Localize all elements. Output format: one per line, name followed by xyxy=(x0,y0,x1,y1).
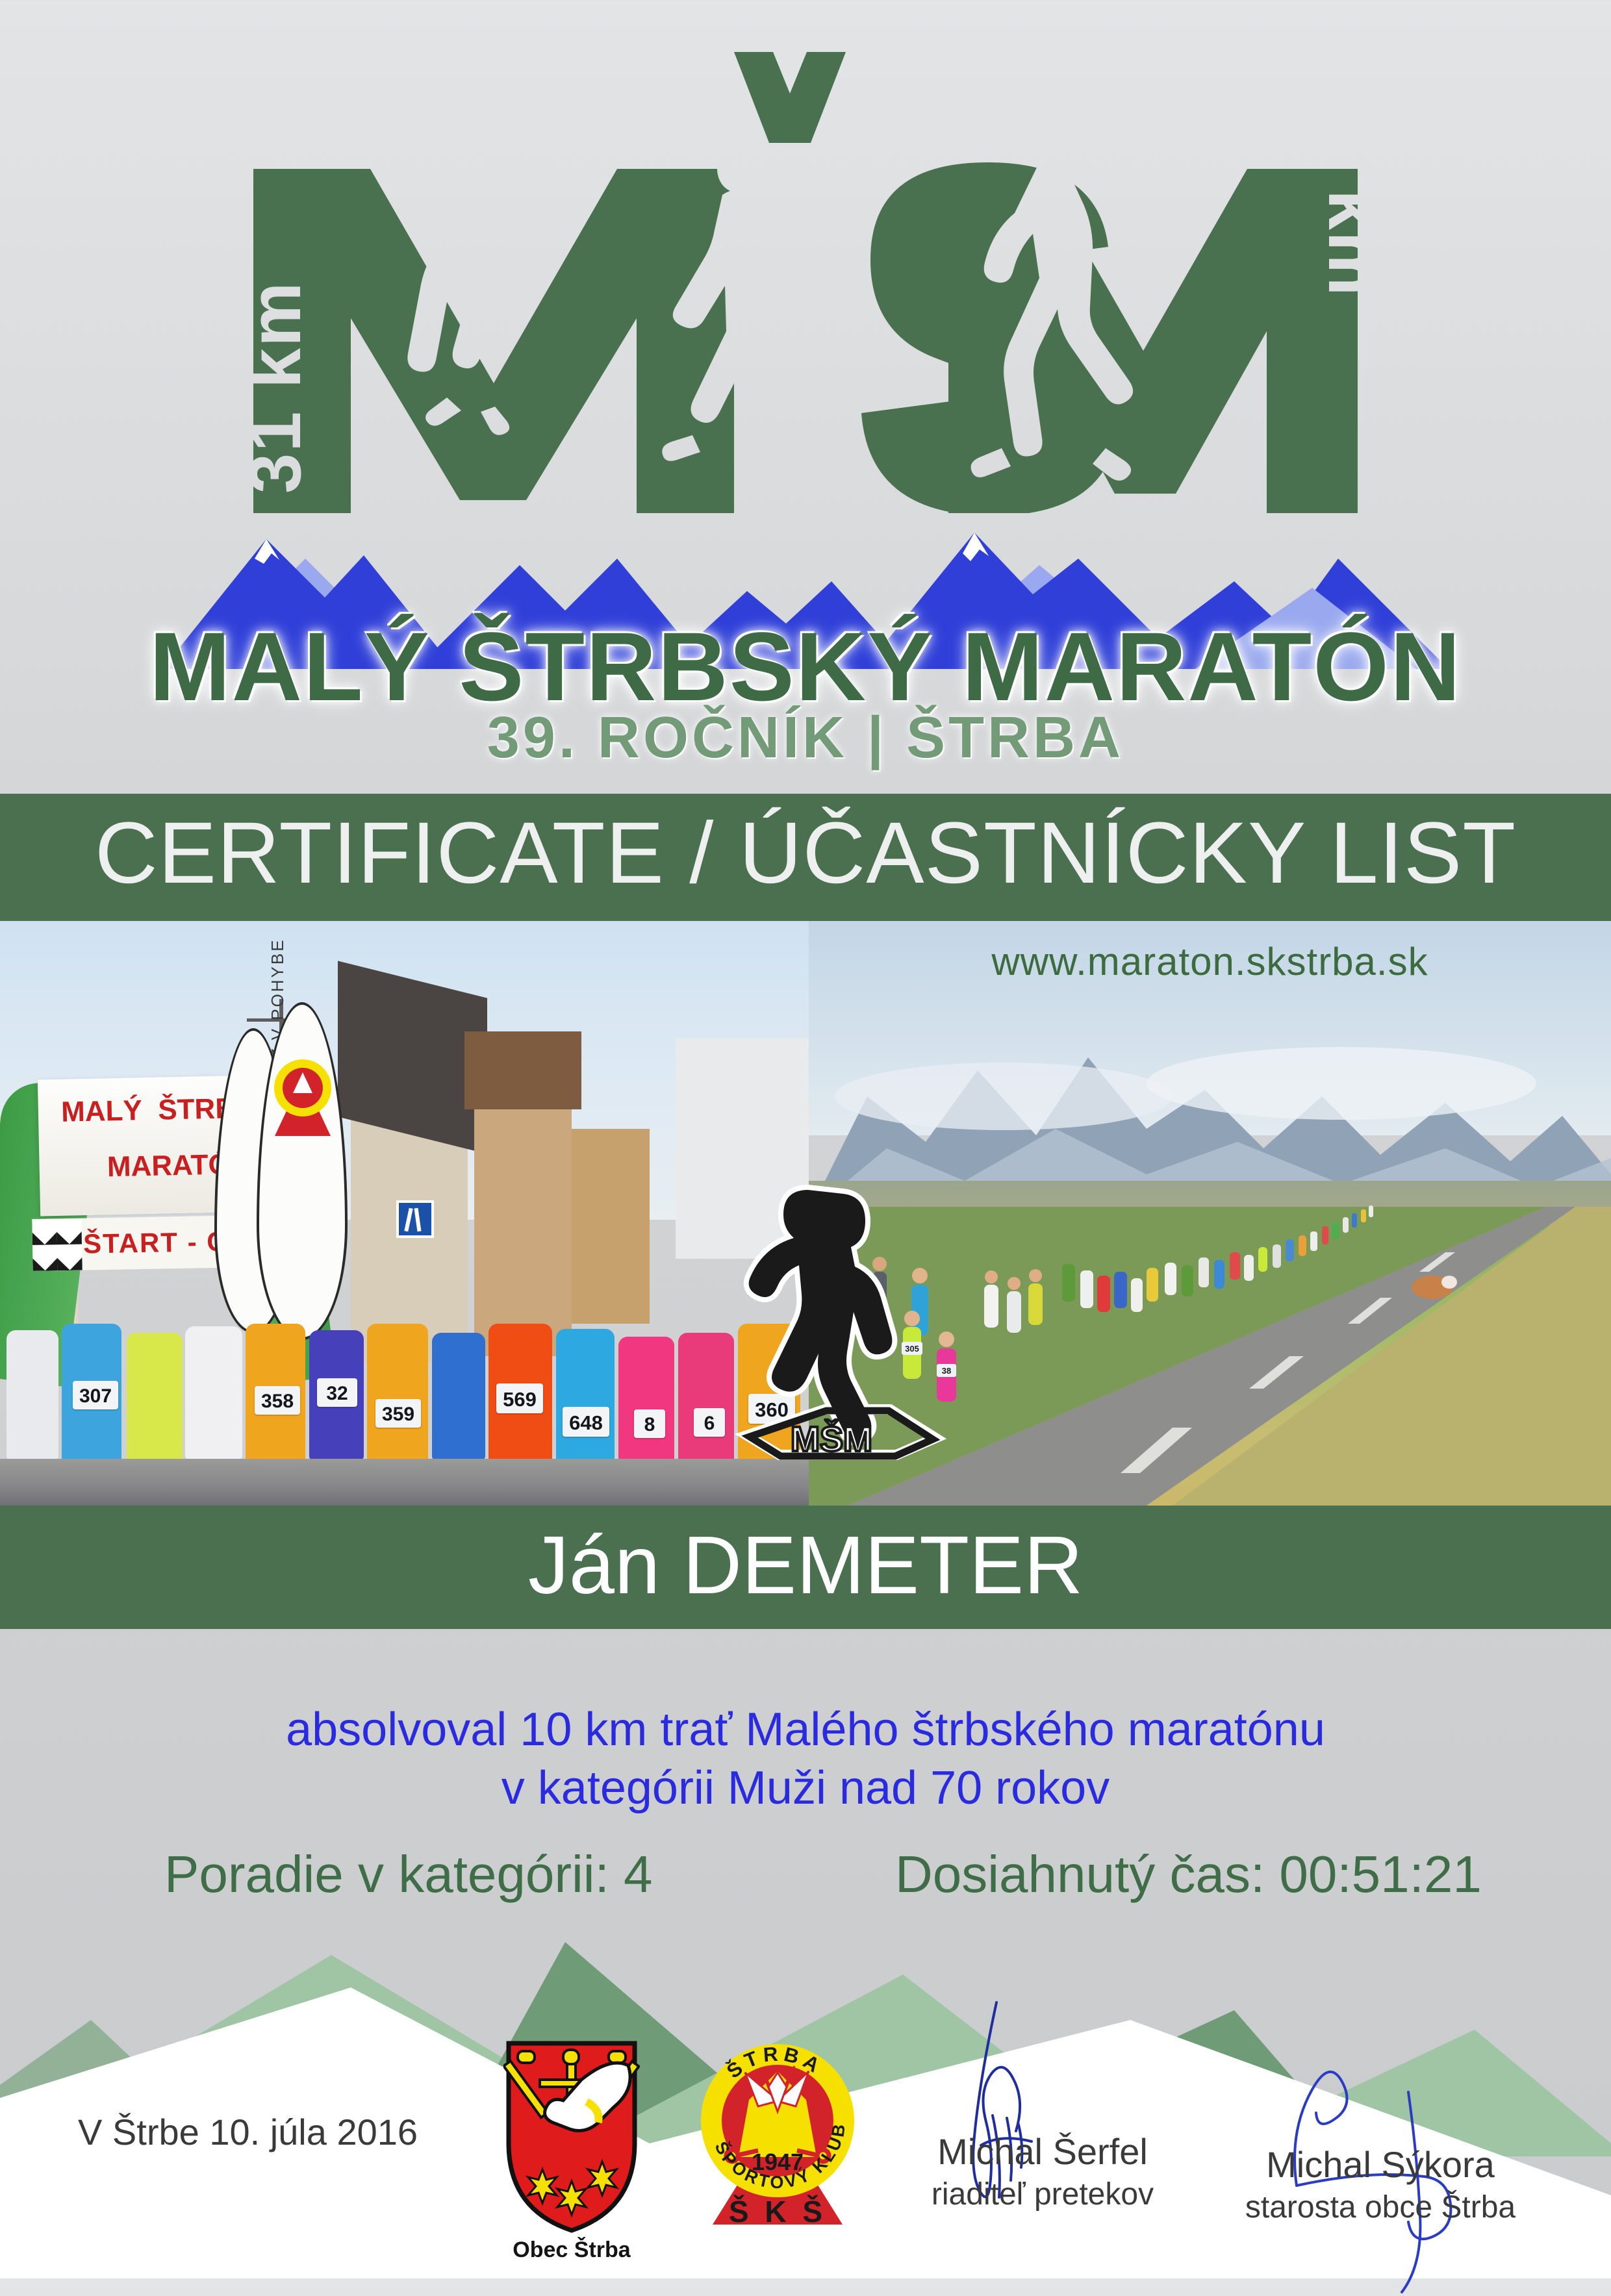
certificate-title: CERTIFICATE / ÚČASTNÍCKY LIST xyxy=(0,803,1611,903)
bib-number: 648 xyxy=(563,1407,609,1437)
arch-text-maly: MALÝ xyxy=(61,1094,143,1128)
sks-logo-small xyxy=(267,1050,338,1141)
bib-number: 6 xyxy=(694,1408,725,1437)
flag-sks-strba xyxy=(257,1002,348,1340)
description-line-2: v kategórii Muži nad 70 rokov xyxy=(0,1761,1611,1815)
msm-watermark-text: MŠM xyxy=(791,1419,872,1459)
signer-name: Michal Sýkora xyxy=(1199,2143,1562,2186)
event-subtitle: 39. ROČNÍK | ŠTRBA xyxy=(0,705,1611,772)
crosswalk-sign xyxy=(396,1200,434,1238)
bib-number: 32 xyxy=(317,1378,357,1407)
sks-year: 1947 xyxy=(752,2149,804,2175)
signer-name: Michal Šerfel xyxy=(861,2130,1224,2173)
sks-abbrev: Š K Š xyxy=(729,2195,826,2228)
signer-role: riaditeľ pretekov xyxy=(861,2176,1224,2212)
bib-number: 358 xyxy=(255,1386,300,1415)
bib-number: 307 xyxy=(73,1381,118,1409)
obec-strba-coat-of-arms xyxy=(503,2039,640,2234)
description-line-1: absolvoval 10 km trať Malého štrbského m… xyxy=(0,1703,1611,1756)
bib-number: 569 xyxy=(496,1383,543,1413)
msm-monogram-logo: 31 km 10 km xyxy=(214,45,1397,513)
website-url: www.maraton.skstrba.sk xyxy=(809,939,1611,984)
signer-role: starosta obce Štrba xyxy=(1199,2189,1562,2225)
logo-block: 31 km 10 km xyxy=(0,0,1611,786)
participant-name: Ján DEMETER xyxy=(0,1518,1611,1612)
signature-block-mayor: Michal Sýkora starosta obce Štrba xyxy=(1199,2143,1562,2225)
msm-runner-cutout-icon: MŠM xyxy=(734,1176,948,1461)
bib-number: 8 xyxy=(634,1409,665,1438)
sks-strba-club-logo: ŠTRBA ŠPORTOVÝ KLUB 1947 Š K Š xyxy=(698,2030,857,2238)
bib-number: 359 xyxy=(375,1399,421,1428)
photo-start-line: MALÝ ŠTRBSKÝ MARATÓN ŠTART - CIEĽ TATRY … xyxy=(0,921,809,1506)
signature-block-director: Michal Šerfel riaditeľ pretekov xyxy=(861,2130,1224,2212)
issue-date: V Štrbe 10. júla 2016 xyxy=(78,2111,418,2153)
obec-strba-label: Obec Štrba xyxy=(503,2238,640,2263)
